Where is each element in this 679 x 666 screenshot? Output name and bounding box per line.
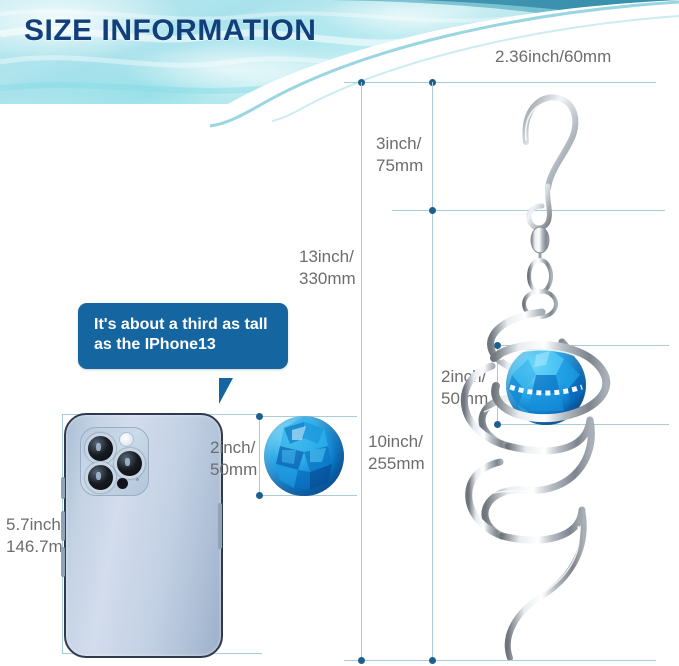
label-spiral-height: 10inch/ 255mm	[368, 431, 425, 476]
camera-lens-top-left	[85, 433, 116, 464]
camera-lens-right	[114, 448, 145, 479]
callout-bubble-tail	[219, 378, 233, 404]
s-hook-icon	[525, 97, 575, 228]
label-hook-height: 3inch/ 75mm	[376, 133, 423, 178]
dim-dot-bottom-left	[358, 657, 365, 664]
dim-dot-crystal-bottom	[256, 492, 263, 499]
camera-microphone	[136, 478, 139, 481]
phone-mute-switch	[61, 477, 65, 499]
page-title: SIZE INFORMATION	[24, 14, 316, 48]
iphone-13-pro	[64, 413, 223, 658]
dim-rail-crystal	[259, 416, 260, 495]
size-information-infographic: SIZE INFORMATION 2.36inch/60mm 3inch/ 75…	[0, 0, 679, 666]
swivel-connector	[524, 227, 556, 317]
camera-flash	[119, 432, 134, 447]
phone-power-button	[218, 503, 222, 549]
spiral-front-arc	[486, 330, 611, 445]
crystal-ball-standalone	[264, 416, 344, 496]
dim-rail-outer	[361, 82, 362, 660]
label-ball-diameter-solo: 2inch/ 50mm	[210, 437, 257, 482]
label-spinner-width: 2.36inch/60mm	[495, 46, 611, 68]
camera-lens-bottom-left	[85, 462, 116, 493]
label-total-height: 13inch/ 330mm	[299, 246, 356, 291]
phone-volume-down	[61, 547, 65, 577]
phone-camera-module	[80, 427, 149, 496]
phone-volume-up	[61, 511, 65, 541]
dim-dot-crystal-top	[256, 413, 263, 420]
crystal-facets-standalone	[264, 416, 344, 496]
camera-lidar-sensor	[117, 478, 128, 489]
callout-bubble: It's about a third as tall as the IPhone…	[78, 303, 288, 369]
dim-line-bottom	[344, 660, 656, 661]
